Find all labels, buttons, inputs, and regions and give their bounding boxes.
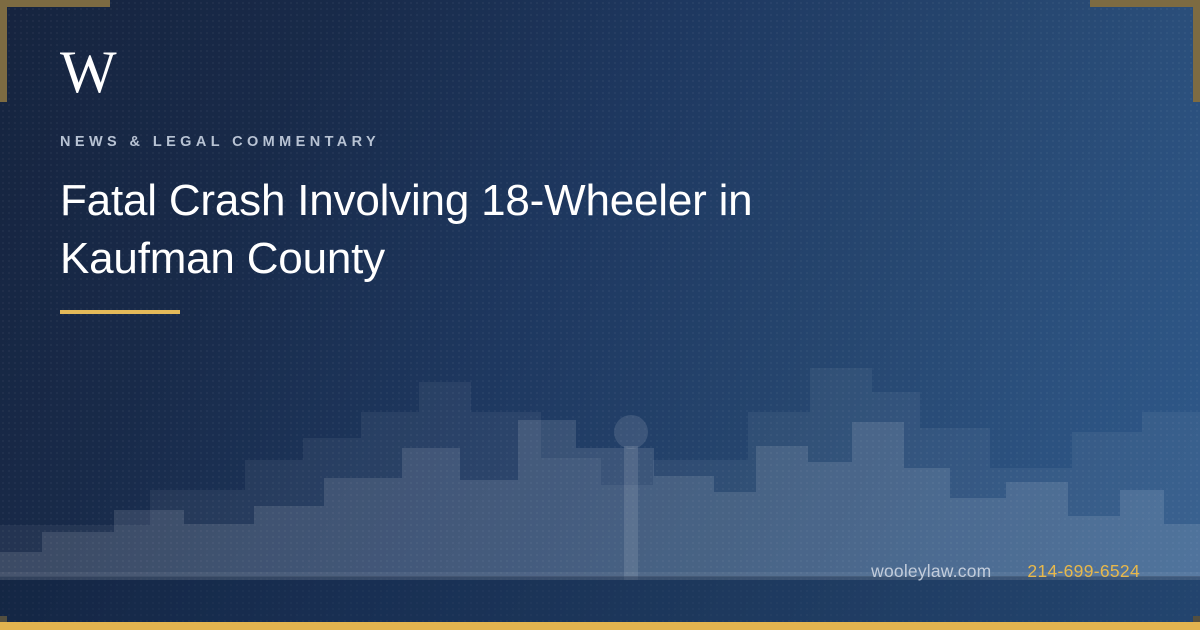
social-share-card: W NEWS & LEGAL COMMENTARY Fatal Crash In…	[0, 0, 1200, 630]
eyebrow-label: NEWS & LEGAL COMMENTARY	[60, 134, 960, 150]
footer-contact: wooleylaw.com 214-699-6524	[871, 561, 1140, 582]
bracket-vertical-bar	[0, 0, 7, 102]
reunion-tower-stalk	[624, 446, 638, 580]
bottom-gold-bar	[0, 622, 1200, 630]
bracket-vertical-bar	[1193, 0, 1200, 102]
footer-band	[0, 576, 1200, 622]
corner-bracket-top-right	[1090, 0, 1200, 102]
gold-accent-rule	[60, 310, 180, 314]
website-link[interactable]: wooleylaw.com	[871, 561, 991, 582]
phone-number-link[interactable]: 214-699-6524	[1027, 561, 1140, 582]
dallas-skyline-silhouette	[0, 320, 1200, 580]
page-title: Fatal Crash Involving 18-Wheeler in Kauf…	[60, 172, 900, 288]
reunion-tower-ball	[614, 415, 648, 449]
wooley-w-monogram-icon: W	[60, 42, 960, 104]
card-content: W NEWS & LEGAL COMMENTARY Fatal Crash In…	[60, 0, 960, 314]
bracket-horizontal-bar	[1090, 0, 1200, 7]
